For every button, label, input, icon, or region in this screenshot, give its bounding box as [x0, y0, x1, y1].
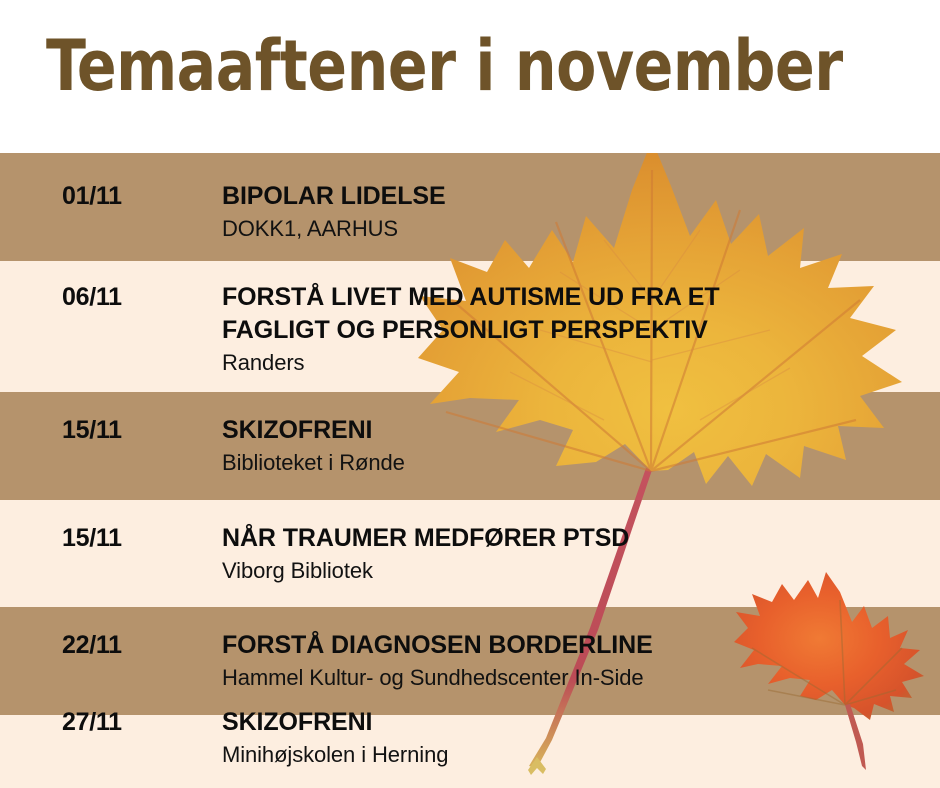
row-date: 15/11 — [62, 416, 122, 445]
row-date: 06/11 — [62, 283, 122, 312]
event-title: FORSTÅ DIAGNOSEN BORDERLINE — [222, 629, 930, 662]
row-body: NÅR TRAUMER MEDFØRER PTSD Viborg Bibliot… — [222, 522, 930, 586]
row-date: 15/11 — [62, 524, 122, 553]
table-row: 01/11 BIPOLAR LIDELSE DOKK1, AARHUS — [0, 153, 940, 261]
event-title: SKIZOFRENI — [222, 706, 930, 739]
event-venue: Minihøjskolen i Herning — [222, 740, 930, 770]
row-body: SKIZOFRENI Biblioteket i Rønde — [222, 414, 930, 478]
table-row: 22/11 FORSTÅ DIAGNOSEN BORDERLINE Hammel… — [0, 607, 940, 715]
row-date: 27/11 — [62, 708, 122, 737]
event-venue: Viborg Bibliotek — [222, 556, 930, 586]
row-body: FORSTÅ DIAGNOSEN BORDERLINE Hammel Kultu… — [222, 629, 930, 693]
row-date: 22/11 — [62, 631, 122, 660]
poster-canvas: Temaaftener i november 01/11 BIPOLAR LID… — [0, 0, 940, 788]
event-title: FORSTÅ LIVET MED AUTISME UD FRA ET FAGLI… — [222, 281, 930, 347]
table-row: 15/11 NÅR TRAUMER MEDFØRER PTSD Viborg B… — [0, 500, 940, 607]
row-date: 01/11 — [62, 182, 122, 211]
poster-header: Temaaftener i november — [0, 0, 940, 153]
row-body: BIPOLAR LIDELSE DOKK1, AARHUS — [222, 180, 930, 244]
event-venue: Biblioteket i Rønde — [222, 448, 930, 478]
row-body: SKIZOFRENI Minihøjskolen i Herning — [222, 706, 930, 770]
table-row: 06/11 FORSTÅ LIVET MED AUTISME UD FRA ET… — [0, 261, 940, 392]
event-venue: Randers — [222, 348, 930, 378]
table-row: 15/11 SKIZOFRENI Biblioteket i Rønde — [0, 392, 940, 500]
event-venue: Hammel Kultur- og Sundhedscenter In-Side — [222, 663, 930, 693]
event-title: SKIZOFRENI — [222, 414, 930, 447]
event-title: BIPOLAR LIDELSE — [222, 180, 930, 213]
event-venue: DOKK1, AARHUS — [222, 214, 930, 244]
event-title: NÅR TRAUMER MEDFØRER PTSD — [222, 522, 930, 555]
page-title: Temaaftener i november — [46, 26, 843, 106]
table-row: 27/11 SKIZOFRENI Minihøjskolen i Herning — [0, 715, 940, 788]
row-body: FORSTÅ LIVET MED AUTISME UD FRA ET FAGLI… — [222, 281, 930, 378]
